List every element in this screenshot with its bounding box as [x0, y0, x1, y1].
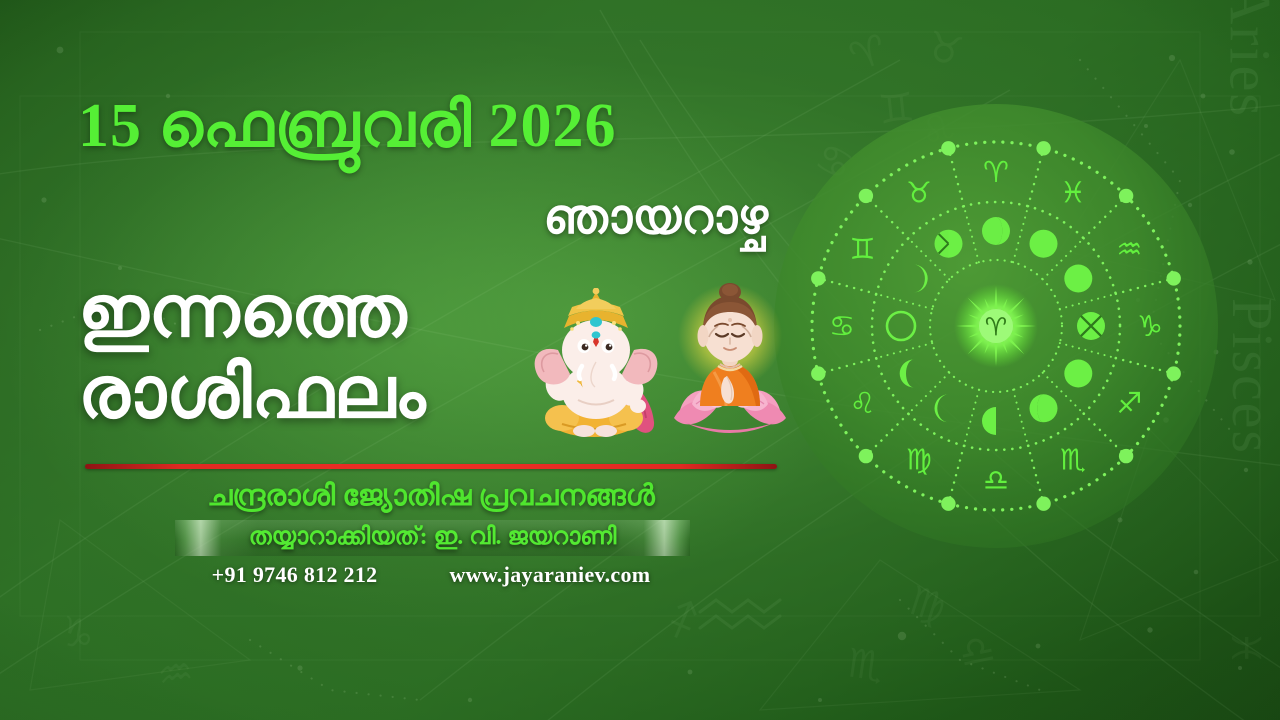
- buddha-icon: [670, 282, 790, 444]
- zodiac-sign-scorpio: ♏: [1060, 442, 1086, 476]
- phone-number[interactable]: +91 9746 812 212: [212, 562, 378, 588]
- svg-text:♉: ♉: [922, 23, 968, 76]
- ganesha-icon: [528, 288, 664, 448]
- wheel-node-dot: [1036, 497, 1050, 511]
- date-heading: 15 ഫെബ്രുവരി 2026: [78, 94, 778, 159]
- zodiac-sign-virgo: ♍: [906, 442, 932, 476]
- moon-phase-waning-gibbous: [1030, 394, 1058, 422]
- wheel-node-dot: [1036, 141, 1050, 155]
- svg-text:♍: ♍: [903, 578, 951, 633]
- contact-row: +91 9746 812 212 www.jayaraniev.com: [85, 562, 777, 588]
- zodiac-sign-taurus: ♉: [906, 176, 932, 210]
- zodiac-wheel-graphic: ♈♓♒♑♐♏♎♍♌♋♊♉ ♈: [768, 98, 1224, 554]
- page-title-line1: ഇന്നത്തെ: [78, 272, 598, 353]
- background-watermark-pisces: Pisces: [1219, 298, 1280, 455]
- moon-phase-full-moon-b: [1064, 265, 1092, 293]
- tagline-text: ചന്ദ്രരാശി ജ്യോതിഷ പ്രവചനങ്ങൾ: [85, 480, 777, 513]
- wheel-node-dot: [941, 497, 955, 511]
- moon-phase-full-moon-d: [1064, 360, 1092, 388]
- deity-illustrations: [528, 282, 790, 452]
- zodiac-sign-gemini: ♊: [850, 232, 876, 266]
- zodiac-sign-libra: ♎: [983, 463, 1009, 497]
- zodiac-sign-cancer: ♋: [829, 309, 855, 343]
- moon-phase-full-moon-a: [1030, 230, 1058, 258]
- svg-text:♏: ♏: [845, 640, 887, 691]
- website-url[interactable]: www.jayaraniev.com: [449, 562, 650, 588]
- moon-phase-waxing-gibbous: [982, 217, 1010, 245]
- zodiac-sign-capricorn: ♑: [1137, 309, 1163, 343]
- svg-text:♈: ♈: [844, 26, 893, 81]
- svg-text:♎: ♎: [955, 625, 1000, 677]
- wheel-center-sun: ♈: [954, 284, 1038, 368]
- background-watermark-aries: Aries: [1217, 0, 1280, 118]
- wheel-node-dot: [1167, 366, 1181, 380]
- horoscope-poster: ♈ ♉ ♊ ♋ ♌ ♍ ♎ ♏ ♐ ♑ ♒ ♓ Aries Pisces: [0, 0, 1280, 720]
- zodiac-sign-pisces: ♓: [1060, 176, 1086, 210]
- wheel-node-dot: [1167, 271, 1181, 285]
- wheel-node-dot: [941, 141, 955, 155]
- zodiac-sign-leo: ♌: [850, 386, 876, 420]
- page-title-line2: രാശിഫലം: [78, 353, 598, 434]
- wheel-node-dot: [859, 449, 873, 463]
- wheel-node-dot: [811, 271, 825, 285]
- svg-text:♓: ♓: [1222, 630, 1268, 666]
- wheel-node-dot: [1119, 449, 1133, 463]
- zodiac-sign-sagittarius: ♐: [1116, 386, 1142, 420]
- title-divider-rule: [85, 464, 777, 469]
- zodiac-wheel: ♈♓♒♑♐♏♎♍♌♋♊♉ ♈: [768, 98, 1224, 554]
- wheel-node-dot: [811, 366, 825, 380]
- wheel-node-dot: [859, 189, 873, 203]
- page-title: ഇന്നത്തെ രാശിഫലം: [78, 272, 598, 433]
- wheel-node-dot: [1119, 189, 1133, 203]
- moon-phase-full-moon-c: [1077, 312, 1105, 340]
- moon-phase-first-quarter: [935, 230, 963, 258]
- author-credit: തയ്യാറാക്കിയത്: ഇ. വി. ജയറാണി: [175, 524, 690, 551]
- wheel-center-symbol: ♈: [985, 313, 1007, 342]
- zodiac-sign-aries: ♈: [983, 155, 1009, 189]
- weekday-heading: ഞായറാഴ്ച: [78, 192, 768, 245]
- zodiac-sign-aquarius: ♒: [1116, 232, 1142, 266]
